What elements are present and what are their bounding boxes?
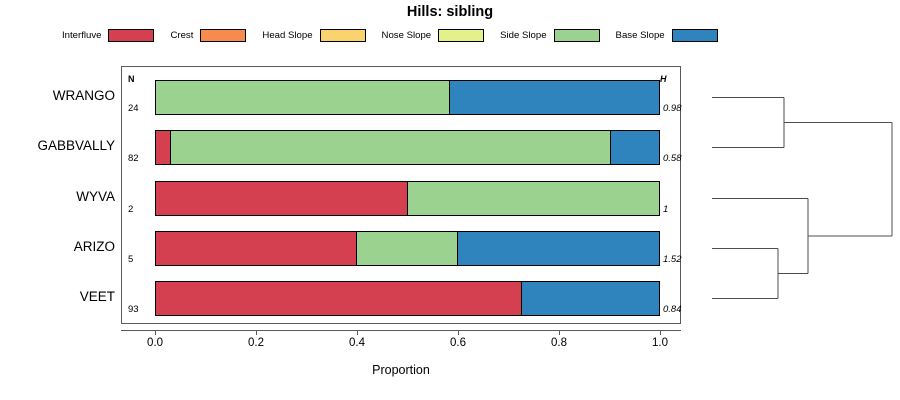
- bar-segment[interactable]: [156, 282, 522, 315]
- legend-swatch: [108, 29, 154, 42]
- axis-tick-label: 0.6: [438, 337, 478, 349]
- category-label: GABBVALLY: [5, 138, 115, 153]
- stacked-bar[interactable]: [155, 80, 660, 115]
- axis-tick: [155, 330, 156, 335]
- axis-tick-label: 0.8: [539, 337, 579, 349]
- legend-entry: Crest: [170, 29, 246, 42]
- stacked-bar[interactable]: [155, 181, 660, 216]
- axis-tick-label: 1.0: [640, 337, 680, 349]
- stacked-bar[interactable]: [155, 231, 660, 266]
- legend-entry: Side Slope: [500, 29, 599, 42]
- n-value: 82: [128, 153, 154, 164]
- axis-tick: [458, 330, 459, 335]
- x-axis-line: [121, 330, 681, 331]
- bar-segment[interactable]: [458, 232, 659, 265]
- column-header-n: N: [128, 74, 135, 84]
- bar-segment[interactable]: [156, 232, 357, 265]
- legend-label: Interfluve: [62, 30, 101, 41]
- legend-swatch: [200, 29, 246, 42]
- legend-swatch: [554, 29, 600, 42]
- category-label: VEET: [5, 289, 115, 304]
- axis-tick-label: 0.0: [135, 337, 175, 349]
- axis-tick-label: 0.4: [337, 337, 377, 349]
- n-value: 2: [128, 204, 154, 215]
- bar-segment[interactable]: [357, 232, 458, 265]
- x-axis-label: Proportion: [121, 363, 681, 377]
- page-title: Hills: sibling: [0, 4, 900, 20]
- stacked-bar[interactable]: [155, 130, 660, 165]
- n-value: 5: [128, 254, 154, 265]
- dendrogram-svg: [686, 66, 900, 324]
- legend: InterfluveCrestHead SlopeNose SlopeSide …: [0, 26, 900, 44]
- legend-label: Nose Slope: [382, 30, 432, 41]
- bar-segment[interactable]: [156, 131, 171, 164]
- legend-swatch: [672, 29, 718, 42]
- axis-tick: [559, 330, 560, 335]
- dendrogram: [686, 66, 900, 324]
- n-value: 24: [128, 103, 154, 114]
- bar-segment[interactable]: [522, 282, 659, 315]
- legend-swatch: [438, 29, 484, 42]
- bar-segment[interactable]: [450, 81, 659, 114]
- legend-entry: Interfluve: [62, 29, 154, 42]
- axis-tick: [660, 330, 661, 335]
- legend-label: Crest: [170, 30, 193, 41]
- category-label: ARIZO: [5, 239, 115, 254]
- legend-label: Head Slope: [262, 30, 312, 41]
- bar-segment[interactable]: [408, 182, 660, 215]
- axis-tick: [256, 330, 257, 335]
- bar-segment[interactable]: [171, 131, 611, 164]
- legend-entry: Base Slope: [616, 29, 718, 42]
- bar-segment[interactable]: [611, 131, 659, 164]
- chart-root: Hills: sibling InterfluveCrestHead Slope…: [0, 0, 900, 400]
- n-value: 93: [128, 304, 154, 315]
- legend-swatch: [320, 29, 366, 42]
- category-label: WRANGO: [5, 88, 115, 103]
- stacked-bar[interactable]: [155, 281, 660, 316]
- column-header-h: H: [660, 74, 667, 84]
- category-label: WYVA: [5, 189, 115, 204]
- legend-entry: Head Slope: [262, 29, 365, 42]
- legend-label: Base Slope: [616, 30, 665, 41]
- legend-label: Side Slope: [500, 30, 546, 41]
- legend-entry: Nose Slope: [382, 29, 485, 42]
- bar-segment[interactable]: [156, 81, 450, 114]
- bar-segment[interactable]: [156, 182, 408, 215]
- axis-tick: [357, 330, 358, 335]
- axis-tick-label: 0.2: [236, 337, 276, 349]
